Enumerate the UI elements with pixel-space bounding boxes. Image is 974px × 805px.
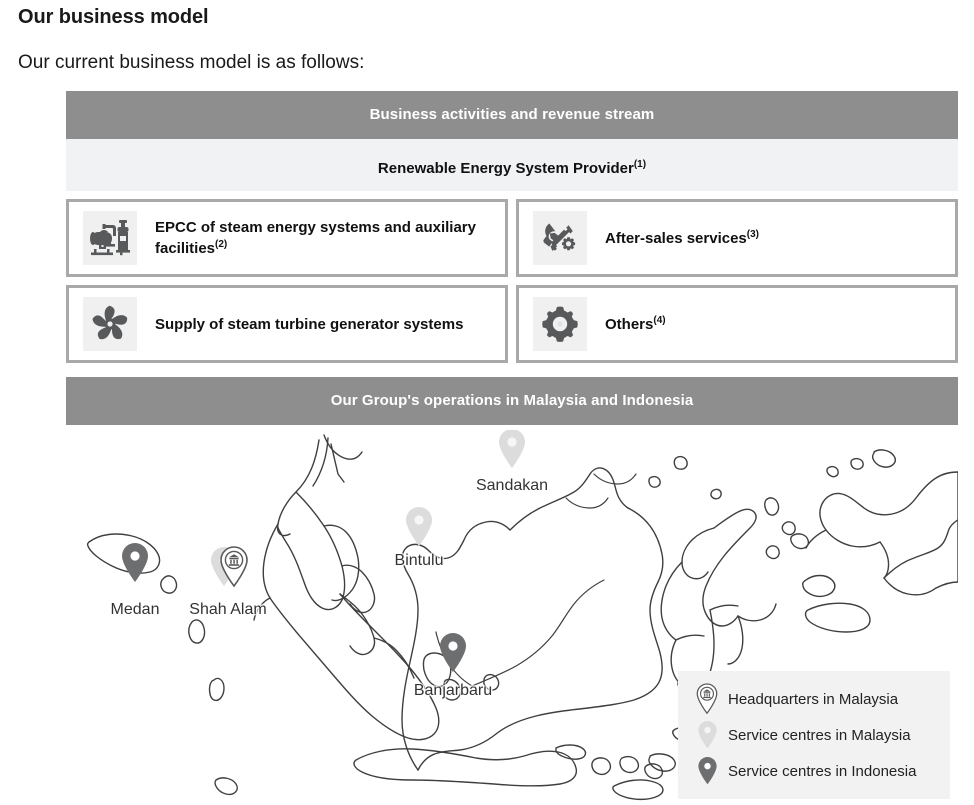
business-activities-header-label: Business activities and revenue stream	[370, 106, 655, 123]
map-label-medan: Medan	[111, 601, 160, 619]
service-centre-dark-pin-icon	[438, 633, 468, 678]
card-others-label: Others(4)	[605, 314, 674, 335]
renewable-energy-provider-label: Renewable Energy System Provider	[378, 160, 634, 177]
operations-header-label: Our Group's operations in Malaysia and I…	[331, 392, 694, 409]
business-model-page: Our business model Our current business …	[0, 0, 974, 805]
card-after-sales-label: After-sales services(3)	[605, 228, 767, 249]
service-centre-light-pin-icon	[404, 507, 434, 552]
card-others[interactable]: Others(4)	[516, 285, 958, 363]
legend-row-service-malaysia: Service centres in Malaysia	[692, 717, 932, 753]
legend-label-service-indonesia: Service centres in Indonesia	[728, 763, 916, 780]
card-epcc[interactable]: EPCC of steam energy systems and auxilia…	[66, 199, 508, 277]
operations-map: Medan	[66, 430, 958, 805]
legend-row-service-indonesia: Service centres in Indonesia	[692, 753, 932, 789]
wrench-screwdriver-icon	[533, 211, 587, 265]
service-centre-dark-pin-icon	[692, 757, 722, 785]
legend-label-service-malaysia: Service centres in Malaysia	[728, 727, 911, 744]
map-legend: Headquarters in Malaysia Service centres…	[678, 671, 950, 799]
service-centre-light-pin-icon	[692, 721, 722, 749]
card-turbine-label: Supply of steam turbine generator system…	[155, 314, 471, 335]
map-label-banjarbaru: Banjarbaru	[414, 682, 492, 700]
page-subtitle: Our current business model is as follows…	[18, 52, 364, 74]
page-title: Our business model	[18, 6, 208, 29]
operations-header: Our Group's operations in Malaysia and I…	[66, 377, 958, 425]
service-centre-dark-pin-icon	[120, 543, 150, 588]
card-row-top: EPCC of steam energy systems and auxilia…	[66, 199, 958, 277]
card-after-sales[interactable]: After-sales services(3)	[516, 199, 958, 277]
headquarters-pin-icon	[692, 683, 722, 715]
service-centre-light-pin-icon	[497, 430, 527, 474]
business-activities-header: Business activities and revenue stream	[66, 91, 958, 139]
map-label-bintulu: Bintulu	[395, 552, 444, 570]
business-model-diagram: Business activities and revenue stream R…	[66, 91, 958, 425]
card-turbine[interactable]: Supply of steam turbine generator system…	[66, 285, 508, 363]
legend-label-headquarters: Headquarters in Malaysia	[728, 691, 898, 708]
renewable-energy-provider-footnote: (1)	[634, 159, 646, 170]
gear-icon	[533, 297, 587, 351]
card-epcc-label: EPCC of steam energy systems and auxilia…	[155, 218, 505, 259]
headquarters-pin-icon	[218, 546, 250, 593]
map-label-shah-alam: Shah Alam	[189, 601, 266, 619]
industrial-boiler-icon	[83, 211, 137, 265]
card-row-bottom: Supply of steam turbine generator system…	[66, 285, 958, 363]
turbine-fan-icon	[83, 297, 137, 351]
legend-row-headquarters: Headquarters in Malaysia	[692, 681, 932, 717]
map-label-sandakan: Sandakan	[476, 477, 548, 495]
renewable-energy-provider-band: Renewable Energy System Provider(1)	[66, 139, 958, 191]
